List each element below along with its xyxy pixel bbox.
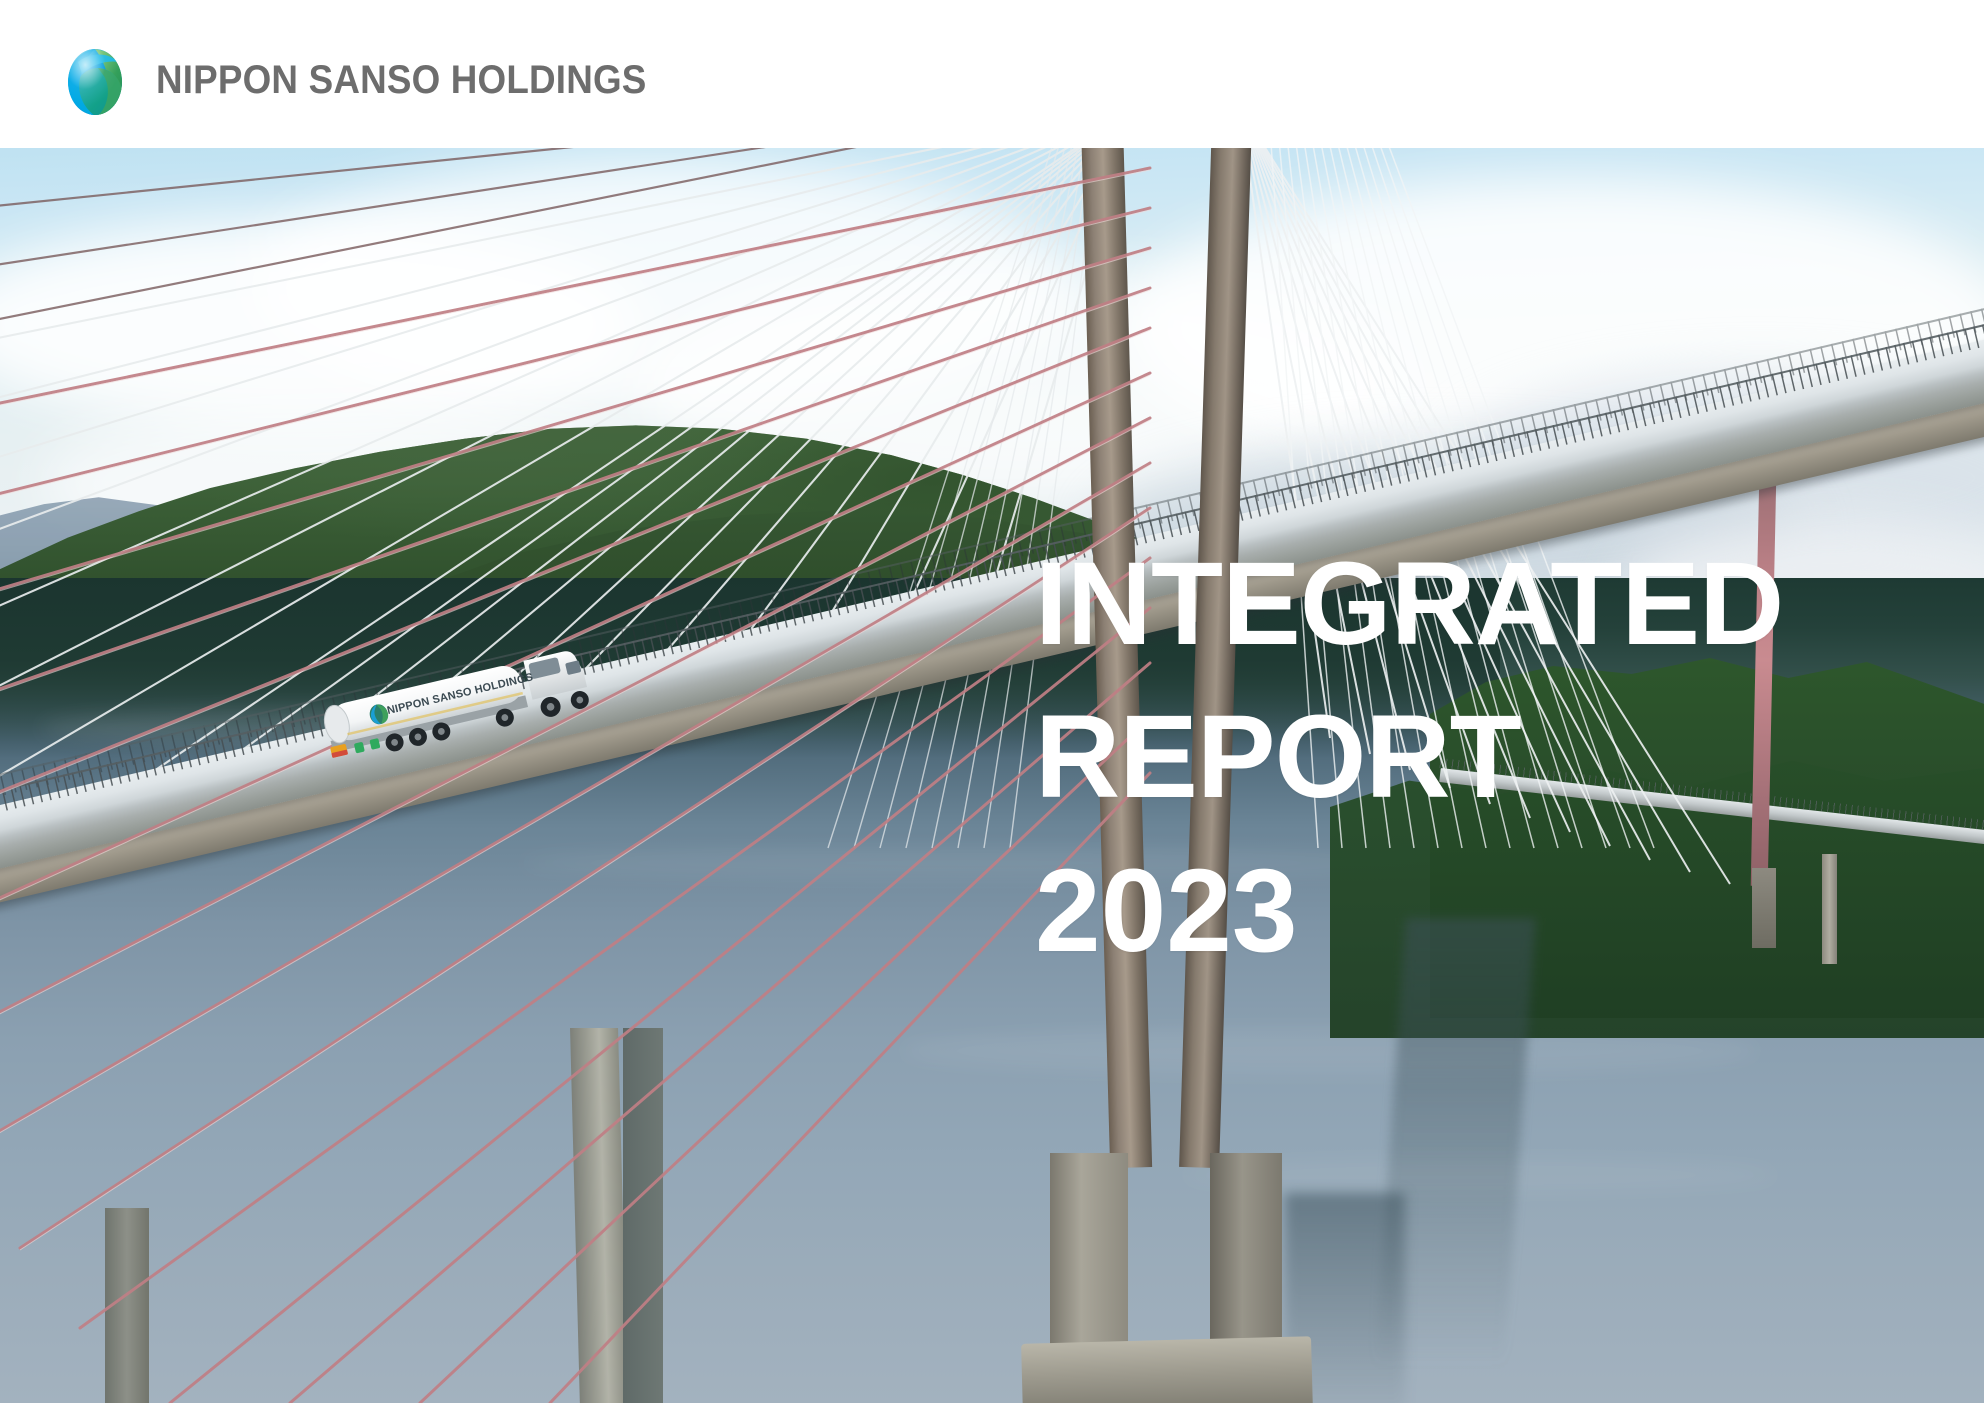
bridge-pier xyxy=(623,1028,663,1403)
page-header: NIPPON SANSO HOLDINGS xyxy=(0,0,1984,148)
nippon-sanso-sphere-logo-icon xyxy=(62,40,134,120)
brand-logo-lockup[interactable]: NIPPON SANSO HOLDINGS xyxy=(62,40,689,120)
far-bridge-pier xyxy=(1822,854,1837,964)
report-cover-page: NIPPON SANSO HOLDINGS xyxy=(0,0,1984,1403)
main-pylon-footing xyxy=(1021,1336,1313,1403)
bridge-pier xyxy=(105,1208,149,1403)
title-line-year: 2023 xyxy=(1035,835,1783,988)
bridge-pier xyxy=(570,1028,628,1403)
title-line-integrated: INTEGRATED xyxy=(1035,528,1783,681)
company-name-wordmark: NIPPON SANSO HOLDINGS xyxy=(156,58,647,103)
cover-title: INTEGRATED REPORT 2023 xyxy=(1035,528,1783,988)
title-line-report: REPORT xyxy=(1035,681,1783,834)
